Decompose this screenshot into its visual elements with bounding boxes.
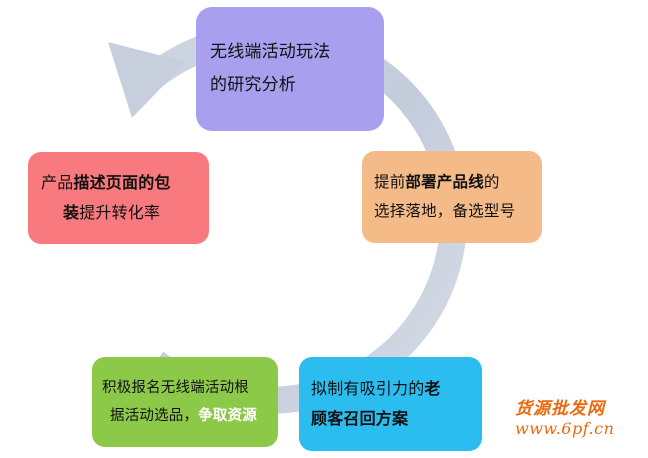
- cycle-node-bottom-left-line-1: 积极报名无线端活动根: [102, 374, 266, 402]
- cycle-node-left[interactable]: 产品描述页面的包 装提升转化率: [28, 152, 209, 244]
- normal-text: 提前: [374, 173, 405, 191]
- cycle-node-bottom-right-line-1: 拟制有吸引力的老: [311, 374, 470, 404]
- cycle-node-bottom-left-line-2: 据活动选品，争取资源: [102, 402, 266, 430]
- normal-text: 拟制有吸引力的: [311, 379, 424, 398]
- normal-text: 提升转化率: [79, 203, 160, 222]
- normal-text: 选择落地，备选型号: [374, 202, 515, 220]
- watermark-site-name: 货源批发网: [515, 400, 643, 419]
- emphasis-text: 争取资源: [198, 408, 257, 424]
- site-watermark: 货源批发网 www.6pf.cn: [515, 400, 643, 438]
- normal-text: 积极报名无线端活动根: [102, 380, 249, 396]
- cycle-node-top-line-2: 的研究分析: [210, 69, 372, 102]
- emphasis-text: 顾客召回方案: [311, 409, 408, 428]
- cycle-node-bottom-right[interactable]: 拟制有吸引力的老 顾客召回方案: [299, 357, 482, 451]
- emphasis-text: 描述页面的包: [73, 173, 170, 192]
- emphasis-text: 老: [424, 379, 440, 398]
- emphasis-text: 装: [63, 203, 79, 222]
- cycle-node-left-line-2: 装提升转化率: [41, 198, 197, 228]
- ring-arrowhead: [108, 42, 186, 118]
- cycle-node-bottom-right-line-2: 顾客召回方案: [311, 404, 470, 434]
- normal-text: 的: [484, 173, 500, 191]
- cycle-node-right[interactable]: 提前部署产品线的 选择落地，备选型号: [362, 151, 542, 243]
- cycle-node-right-line-1: 提前部署产品线的: [374, 168, 530, 197]
- normal-text: 产品: [41, 173, 73, 192]
- normal-text: 的研究分析: [210, 75, 296, 95]
- cycle-node-right-line-2: 选择落地，备选型号: [374, 197, 530, 226]
- cycle-node-top[interactable]: 无线端活动玩法 的研究分析: [196, 7, 384, 131]
- normal-text: 据活动选品，: [110, 408, 198, 424]
- watermark-url: www.6pf.cn: [515, 419, 643, 438]
- cycle-node-top-line-1: 无线端活动玩法: [210, 36, 372, 69]
- cycle-node-left-line-1: 产品描述页面的包: [41, 168, 197, 198]
- diagram-canvas: 无线端活动玩法 的研究分析 提前部署产品线的 选择落地，备选型号 拟制有吸引力的…: [0, 0, 648, 458]
- normal-text: 无线端活动玩法: [210, 42, 330, 62]
- emphasis-text: 部署产品线: [405, 173, 484, 191]
- cycle-node-bottom-left[interactable]: 积极报名无线端活动根 据活动选品，争取资源: [92, 357, 278, 447]
